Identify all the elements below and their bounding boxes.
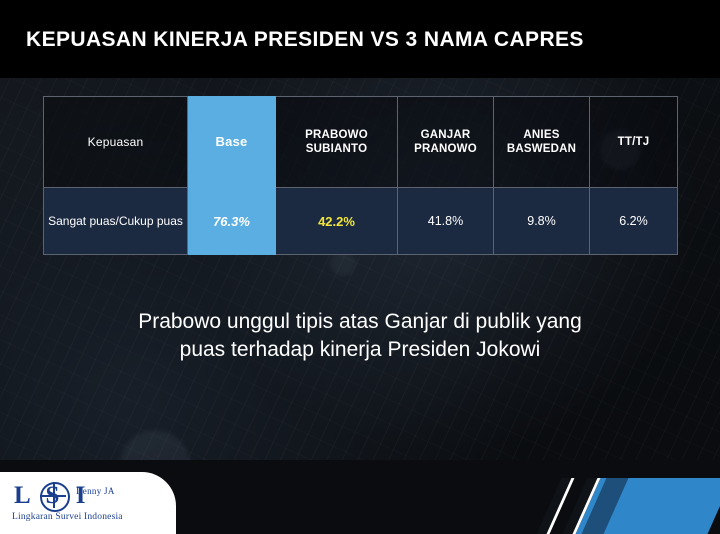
column-header-anies: ANIES BASWEDAN	[494, 97, 590, 188]
table-header-row: Kepuasan Base PRABOWO SUBIANTO GANJAR PR…	[44, 97, 678, 188]
slide-footer: L S I Denny JA Lingkaran Survei Indonesi…	[0, 460, 720, 534]
column-header-ganjar: GANJAR PRANOWO	[398, 97, 494, 188]
column-header-prabowo-line2: SUBIANTO	[306, 143, 367, 155]
caption-line-2: puas terhadap kinerja Presiden Jokowi	[0, 336, 720, 364]
title-bar: KEPUASAN KINERJA PRESIDEN VS 3 NAMA CAPR…	[0, 0, 720, 78]
cell-ttj: 6.2%	[590, 188, 678, 255]
column-header-prabowo-line1: PRABOWO	[305, 129, 368, 141]
row-label-sangat-puas: Sangat puas/Cukup puas	[44, 188, 188, 255]
column-header-ganjar-line2: PRANOWO	[414, 143, 477, 155]
column-header-anies-line2: BASWEDAN	[507, 143, 576, 155]
column-header-ttj: TT/TJ	[590, 97, 678, 188]
page-title: KEPUASAN KINERJA PRESIDEN VS 3 NAMA CAPR…	[26, 28, 584, 52]
slide-background	[0, 0, 720, 534]
column-header-base: Base	[188, 97, 276, 188]
cell-ganjar: 41.8%	[398, 188, 494, 255]
column-header-anies-line1: ANIES	[523, 129, 559, 141]
caption-line-1: Prabowo unggul tipis atas Ganjar di publ…	[0, 308, 720, 336]
column-header-prabowo: PRABOWO SUBIANTO	[276, 97, 398, 188]
column-header-kepuasan: Kepuasan	[44, 97, 188, 188]
cell-base: 76.3%	[188, 188, 276, 255]
slide-caption: Prabowo unggul tipis atas Ganjar di publ…	[0, 308, 720, 365]
logo-subtitle: Denny JA	[76, 486, 115, 496]
results-table: Kepuasan Base PRABOWO SUBIANTO GANJAR PR…	[43, 96, 678, 255]
cell-anies: 9.8%	[494, 188, 590, 255]
logo-tagline: Lingkaran Survei Indonesia	[12, 512, 123, 522]
logo-plate: L S I Denny JA Lingkaran Survei Indonesi…	[0, 472, 176, 534]
table-row: Sangat puas/Cukup puas 76.3% 42.2% 41.8%…	[44, 188, 678, 255]
cell-prabowo: 42.2%	[276, 188, 398, 255]
globe-icon	[40, 482, 70, 512]
column-header-ganjar-line1: GANJAR	[421, 129, 471, 141]
